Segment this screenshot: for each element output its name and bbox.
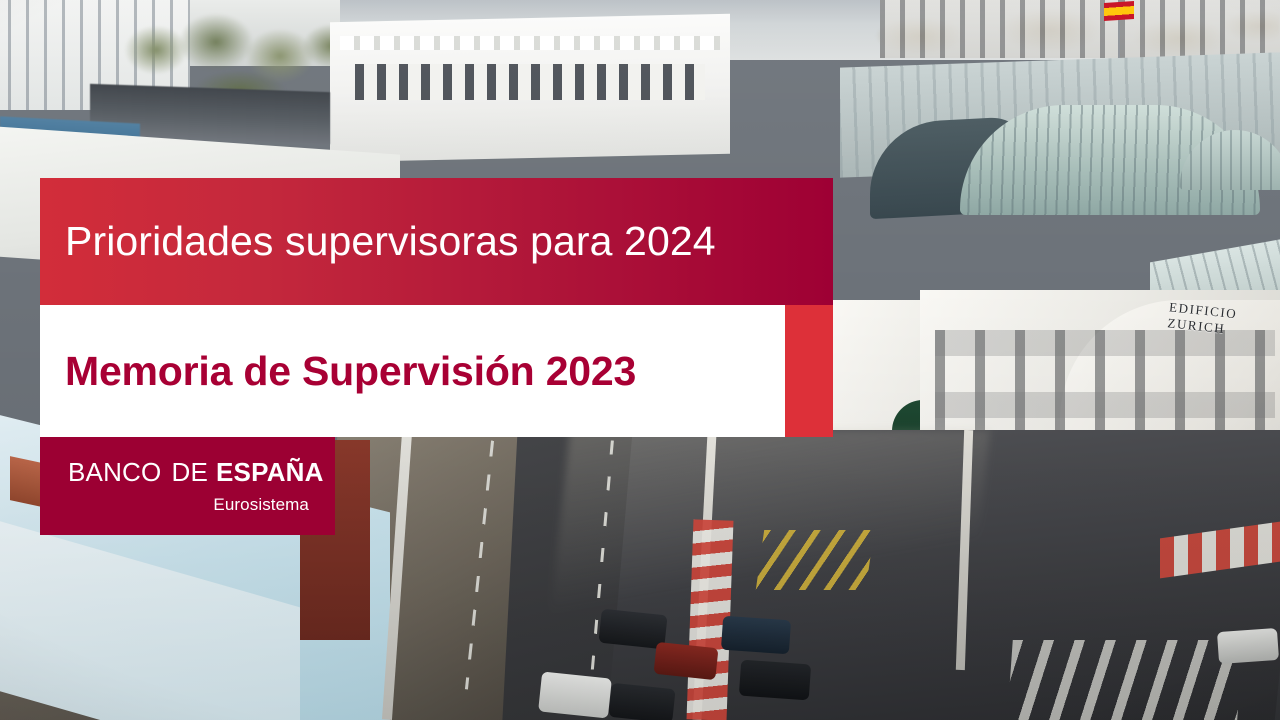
accent-stripe: [785, 305, 833, 437]
logo-word-espana: ESPAÑA: [216, 457, 324, 488]
logo-word-banco: BANCO: [68, 457, 161, 488]
logo-wordmark: BANCO DE ESPAÑA: [68, 457, 309, 488]
page-subtitle: Memoria de Supervisión 2023: [40, 348, 636, 395]
title-bar: Prioridades supervisoras para 2024: [40, 178, 833, 305]
title-card-overlay: Prioridades supervisoras para 2024 Memor…: [0, 0, 1280, 720]
logo-word-de: DE: [171, 457, 208, 488]
logo-tagline: Eurosistema: [68, 495, 309, 515]
page-title: Prioridades supervisoras para 2024: [40, 218, 716, 265]
banco-de-espana-logo: BANCO DE ESPAÑA Eurosistema: [40, 437, 335, 535]
subtitle-band: Memoria de Supervisión 2023: [40, 305, 833, 437]
